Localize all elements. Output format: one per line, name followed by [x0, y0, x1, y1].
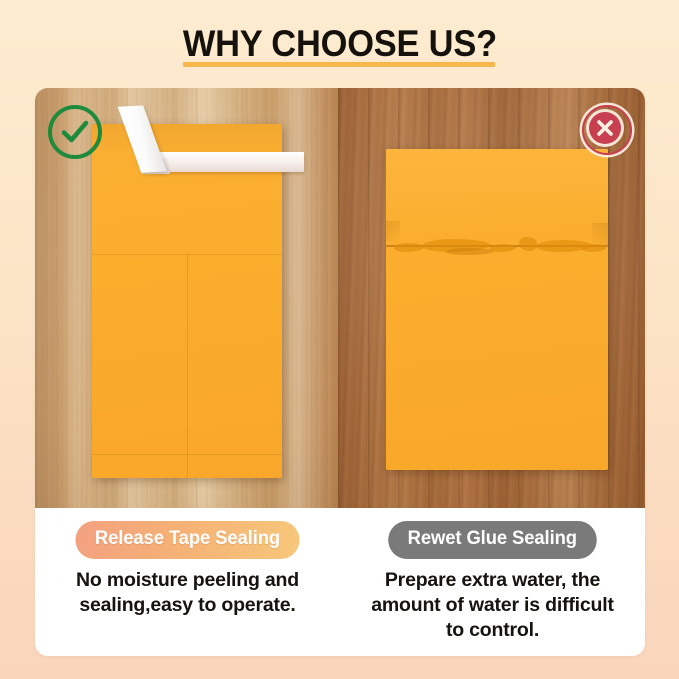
envelope-top-shade-right	[386, 149, 608, 237]
comparison-card: Release Tape Sealing No moisture peeling…	[35, 88, 645, 656]
caption-column-right: Rewet Glue Sealing Prepare extra water, …	[340, 508, 645, 656]
photo-left-release-tape	[35, 88, 338, 508]
glue-blob	[582, 244, 606, 252]
glue-blob	[519, 237, 537, 251]
envelope-bottom-seam-left	[92, 454, 282, 455]
envelope-release-tape	[92, 124, 282, 478]
release-tape-strip	[152, 152, 304, 172]
title-underline	[183, 62, 495, 67]
caption-row: Release Tape Sealing No moisture peeling…	[35, 508, 645, 656]
photo-right-rewet-glue	[338, 88, 645, 508]
label-rewet-glue-sealing: Rewet Glue Sealing	[388, 521, 596, 559]
envelope-rewet-glue	[386, 149, 608, 470]
check-circle-icon	[48, 105, 102, 159]
description-rewet-glue-sealing: Prepare extra water, the amount of water…	[363, 568, 623, 643]
x-circle-icon	[582, 105, 632, 155]
label-release-tape-sealing: Release Tape Sealing	[76, 521, 300, 559]
page-title: WHY CHOOSE US?	[179, 24, 501, 64]
page-title-container: WHY CHOOSE US?	[0, 24, 679, 64]
glue-blob	[446, 248, 494, 255]
description-release-tape-sealing: No moisture peeling and sealing,easy to …	[62, 568, 314, 618]
photo-row	[35, 88, 645, 508]
caption-column-left: Release Tape Sealing No moisture peeling…	[35, 508, 340, 656]
x-icon-disc	[589, 112, 621, 144]
envelope-center-seam-left	[187, 254, 188, 478]
glue-blob	[394, 243, 424, 252]
infographic-page: WHY CHOOSE US?	[0, 0, 679, 679]
wet-glue-seam	[386, 233, 608, 255]
